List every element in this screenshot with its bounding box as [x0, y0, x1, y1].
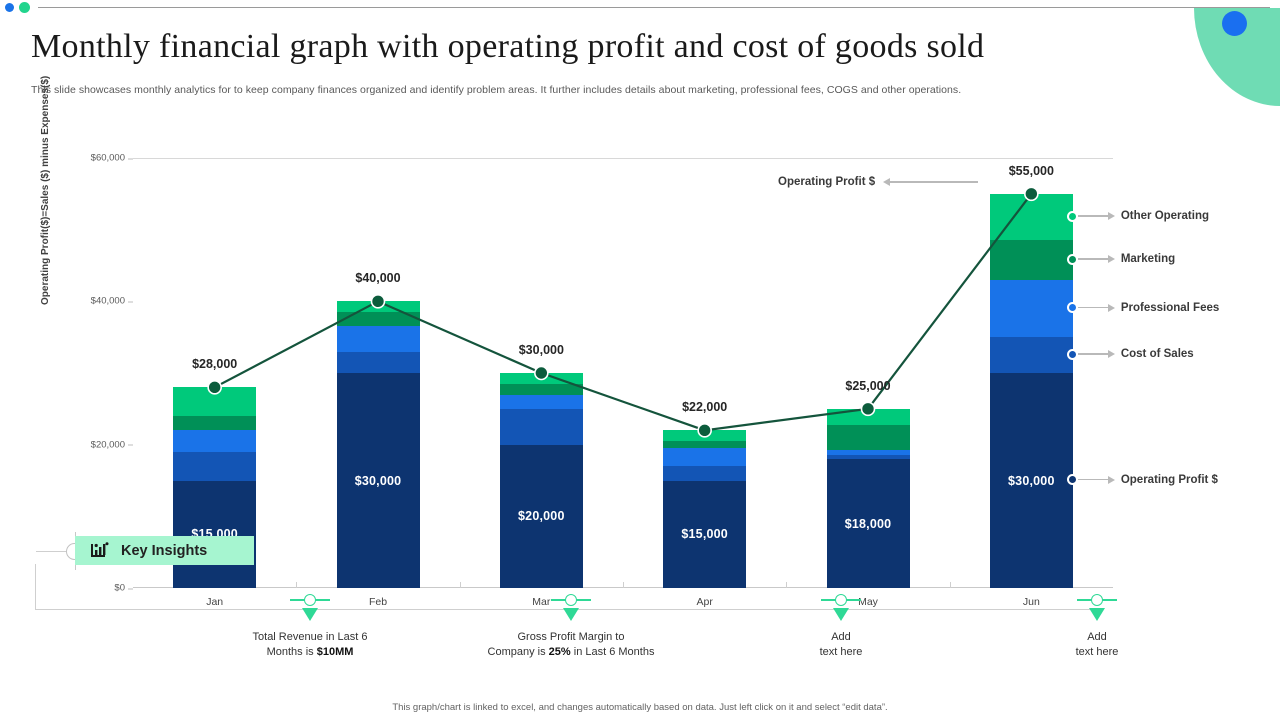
page-title: Monthly financial graph with operating p… [31, 28, 1121, 66]
footer-note: This graph/chart is linked to excel, and… [0, 702, 1280, 713]
decor-blue-dot-icon [5, 3, 14, 12]
insight-marker-text: Total Revenue in Last 6Months is $10MM [195, 630, 425, 660]
key-insights-label: Key Insights [121, 543, 207, 559]
key-insights-badge[interactable]: Key Insights [75, 536, 254, 565]
legend-item-operating-profit[interactable]: Operating Profit $ [1067, 474, 1218, 486]
header-rule [38, 7, 1270, 8]
x-axis-label: Feb [369, 596, 387, 608]
marker-triangle-icon [833, 608, 849, 621]
line-data-point[interactable] [208, 381, 221, 394]
legend-color-dot-icon [1067, 349, 1078, 360]
line-value-label: $28,000 [192, 357, 237, 371]
legend-item-cost-of-sales[interactable]: Cost of Sales [1067, 348, 1194, 360]
marker-ring-icon [835, 594, 847, 606]
arrow-right-icon [1108, 255, 1115, 263]
line-value-label: $25,000 [845, 379, 890, 393]
y-tick-label: $60,000 [91, 153, 133, 164]
line-value-label: $55,000 [1009, 164, 1054, 178]
profit-line-overlay [133, 158, 1113, 588]
legend-color-dot-icon [1067, 254, 1078, 265]
legend-item-marketing[interactable]: Marketing [1067, 253, 1175, 265]
operating-profit-line [215, 194, 1032, 431]
x-axis-label: May [858, 596, 878, 608]
arrow-right-icon [1108, 304, 1115, 312]
legend-leader-line [1078, 258, 1108, 260]
marker-ring-icon [304, 594, 316, 606]
chart-plot-area: $0$20,000$40,000$60,000 $15,000Jan$30,00… [133, 158, 1113, 588]
decor-green-dot-icon [19, 2, 30, 13]
legend-leader-line [1078, 479, 1108, 481]
marker-triangle-icon [1089, 608, 1105, 621]
marker-ring-icon [565, 594, 577, 606]
bar-chart-icon [91, 542, 110, 559]
legend-leader-line [1078, 215, 1108, 217]
line-value-label: $40,000 [355, 271, 400, 285]
line-value-label: $30,000 [519, 343, 564, 357]
legend-item-other-operating[interactable]: Other Operating [1067, 210, 1209, 222]
line-data-point[interactable] [535, 367, 548, 380]
marker-ring-icon [1091, 594, 1103, 606]
legend-leader-line [1078, 307, 1108, 309]
x-axis-label: Apr [696, 596, 712, 608]
legend-item-professional-fees[interactable]: Professional Fees [1067, 302, 1219, 314]
line-value-label: $22,000 [682, 400, 727, 414]
legend-color-dot-icon [1067, 302, 1078, 313]
insight-marker-text: Gross Profit Margin toCompany is 25% in … [456, 630, 686, 660]
arrow-right-icon [1108, 212, 1115, 220]
y-tick-label: $40,000 [91, 296, 133, 307]
marker-triangle-icon [563, 608, 579, 621]
page-subtitle: This slide showcases monthly analytics f… [31, 84, 1131, 96]
arrow-right-icon [1108, 476, 1115, 484]
x-axis-label: Jan [206, 596, 223, 608]
line-data-point[interactable] [372, 295, 385, 308]
insight-marker-text: Addtext here [982, 630, 1212, 660]
y-tick-mark [128, 588, 133, 589]
line-data-point[interactable] [1025, 187, 1038, 200]
x-axis-label: Jun [1023, 596, 1040, 608]
decor-corner-dot-icon [1222, 11, 1247, 36]
legend-label: Other Operating [1121, 210, 1209, 222]
y-axis-title: Operating Profit($)=Sales ($) minus Expe… [40, 76, 51, 305]
legend-label: Marketing [1121, 253, 1175, 265]
legend-color-dot-icon [1067, 474, 1078, 485]
y-tick-label: $0 [114, 583, 133, 594]
arrow-right-icon [1108, 350, 1115, 358]
line-data-point[interactable] [698, 424, 711, 437]
insights-bracket-vertical [35, 564, 36, 610]
marker-triangle-icon [302, 608, 318, 621]
legend-label: Operating Profit $ [1121, 474, 1218, 486]
line-data-point[interactable] [862, 402, 875, 415]
y-tick-label: $20,000 [91, 439, 133, 450]
legend-label: Cost of Sales [1121, 348, 1194, 360]
callout-leader-line [890, 181, 978, 183]
operating-profit-line-callout: Operating Profit $ [778, 176, 978, 188]
insight-marker-text: Addtext here [726, 630, 956, 660]
legend-label: Professional Fees [1121, 302, 1219, 314]
legend-leader-line [1078, 353, 1108, 355]
operating-profit-line-callout-label: Operating Profit $ [778, 176, 875, 188]
legend-color-dot-icon [1067, 211, 1078, 222]
x-axis-label: Mar [532, 596, 550, 608]
arrow-left-icon [883, 178, 890, 186]
